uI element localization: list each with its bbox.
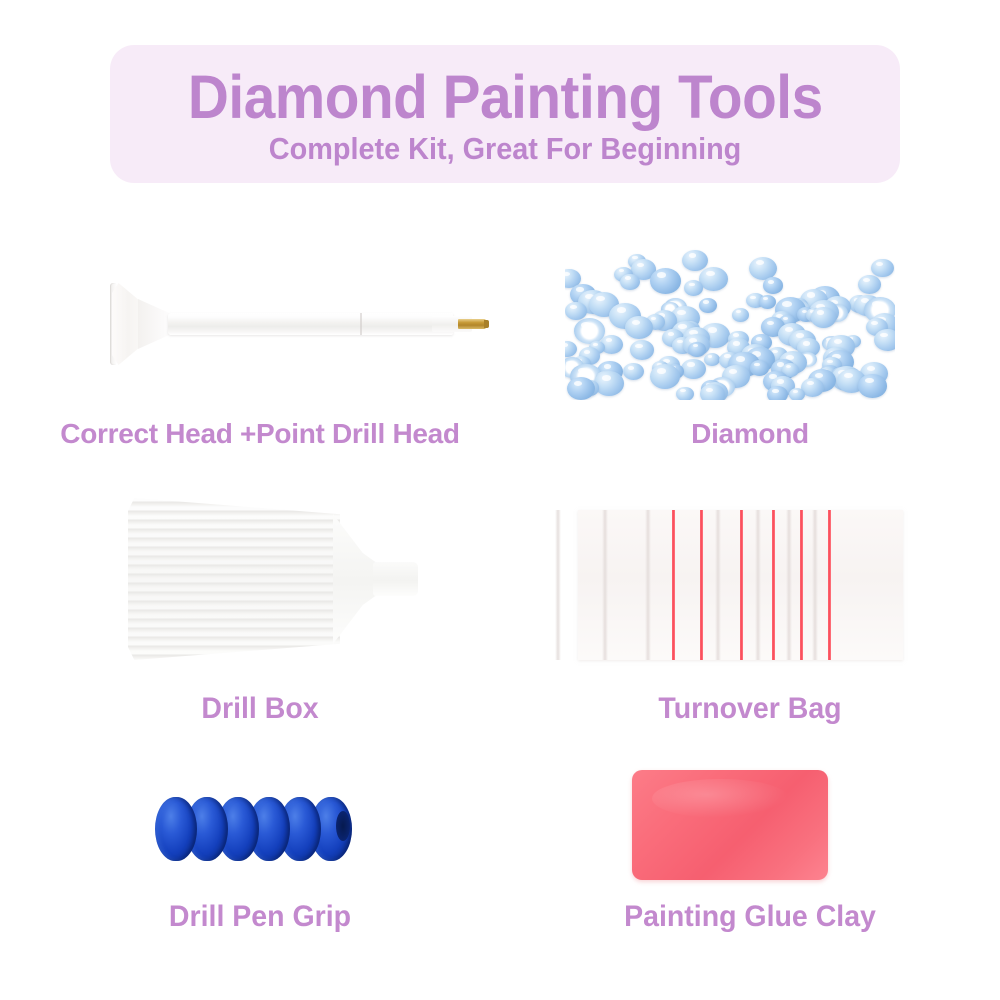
item-label-drill-box: Drill Box bbox=[23, 692, 498, 726]
item-label-turnover-bag: Turnover Bag bbox=[522, 692, 978, 726]
diamond-bead bbox=[684, 280, 703, 296]
diamond-bead bbox=[763, 277, 783, 293]
grip-bore-opening bbox=[336, 811, 350, 841]
item-label-painting-glue-clay: Painting Glue Clay bbox=[522, 900, 978, 934]
item-label-drill-pen-grip: Drill Pen Grip bbox=[23, 900, 498, 934]
page-title: Diamond Painting Tools bbox=[188, 65, 823, 129]
grip-rib bbox=[155, 797, 197, 861]
product-item-turnover-bag: Turnover Bag bbox=[510, 480, 990, 740]
diamond-bead bbox=[874, 329, 895, 351]
product-item-drill-box: Drill Box bbox=[10, 480, 510, 740]
diamond-bead bbox=[759, 295, 776, 309]
item-label-diamond: Diamond bbox=[510, 418, 990, 450]
infographic-page: Diamond Painting Tools Complete Kit, Gre… bbox=[0, 0, 1000, 1000]
diamond-bead bbox=[594, 371, 624, 396]
diamond-bead bbox=[858, 275, 881, 294]
pen-barrel-seam bbox=[360, 313, 362, 335]
drill-tray-icon bbox=[128, 490, 418, 670]
bag-fold bbox=[555, 510, 561, 660]
pen-tip-end bbox=[484, 320, 489, 328]
pen-point-drill-tip bbox=[458, 319, 486, 329]
bag-fold bbox=[786, 510, 792, 660]
diamond-painting-pen-icon bbox=[60, 275, 490, 375]
diamond-bead bbox=[625, 316, 653, 339]
diamond-bead bbox=[704, 353, 720, 366]
diamond-bead bbox=[682, 250, 708, 271]
diamond-bead bbox=[565, 302, 586, 320]
diamond-bead bbox=[858, 374, 887, 397]
clay-sheen bbox=[652, 779, 789, 819]
diamond-bead bbox=[650, 364, 680, 389]
glue-clay-icon bbox=[632, 770, 828, 880]
header-banner: Diamond Painting Tools Complete Kit, Gre… bbox=[110, 45, 900, 183]
product-item-diamond: Diamond bbox=[510, 240, 990, 470]
diamond-bead bbox=[789, 388, 805, 400]
diamond-bead bbox=[699, 298, 717, 313]
zip-bags-icon bbox=[578, 510, 903, 660]
bag-zip-seal-stripe bbox=[772, 510, 775, 660]
bag-zip-seal-stripe bbox=[700, 510, 703, 660]
diamond-bead bbox=[623, 363, 644, 380]
diamond-bead bbox=[650, 268, 681, 294]
bag-fold bbox=[755, 510, 761, 660]
diamond-bead bbox=[688, 342, 706, 357]
diamond-bead bbox=[732, 308, 749, 322]
foam-grip-icon bbox=[155, 793, 355, 865]
pen-barrel bbox=[168, 313, 453, 335]
page-subtitle: Complete Kit, Great For Beginning bbox=[269, 131, 742, 167]
diamond-bead bbox=[620, 274, 640, 291]
bag-fold bbox=[812, 510, 818, 660]
diamond-bead bbox=[630, 340, 654, 360]
bag-zip-seal-stripe bbox=[740, 510, 743, 660]
diamond-drill-beads-icon bbox=[565, 240, 895, 400]
diamond-bead bbox=[871, 259, 894, 278]
bag-zip-seal-stripe bbox=[800, 510, 803, 660]
bag-fold bbox=[645, 510, 651, 660]
product-item-correct-head-point-drill-head: Correct Head +Point Drill Head bbox=[10, 240, 510, 470]
diamond-bead bbox=[565, 341, 577, 357]
bag-zip-seal-stripe bbox=[672, 510, 675, 660]
diamond-bead bbox=[700, 384, 724, 400]
product-item-painting-glue-clay: Painting Glue Clay bbox=[510, 745, 990, 960]
tray-handle bbox=[373, 562, 418, 596]
bag-fold bbox=[715, 510, 721, 660]
diamond-bead bbox=[749, 257, 777, 280]
bag-fold bbox=[602, 510, 608, 660]
tray-grooves bbox=[128, 498, 340, 660]
diamond-bead bbox=[676, 387, 694, 400]
diamond-bead bbox=[767, 386, 788, 400]
product-item-drill-pen-grip: Drill Pen Grip bbox=[10, 745, 510, 960]
diamond-bead bbox=[681, 359, 706, 380]
diamond-bead bbox=[567, 377, 595, 400]
diamond-bead bbox=[699, 267, 728, 291]
item-label-correct-head-point-drill-head: Correct Head +Point Drill Head bbox=[10, 418, 510, 450]
bag-zip-seal-stripe bbox=[828, 510, 831, 660]
diamond-bead bbox=[811, 307, 836, 327]
